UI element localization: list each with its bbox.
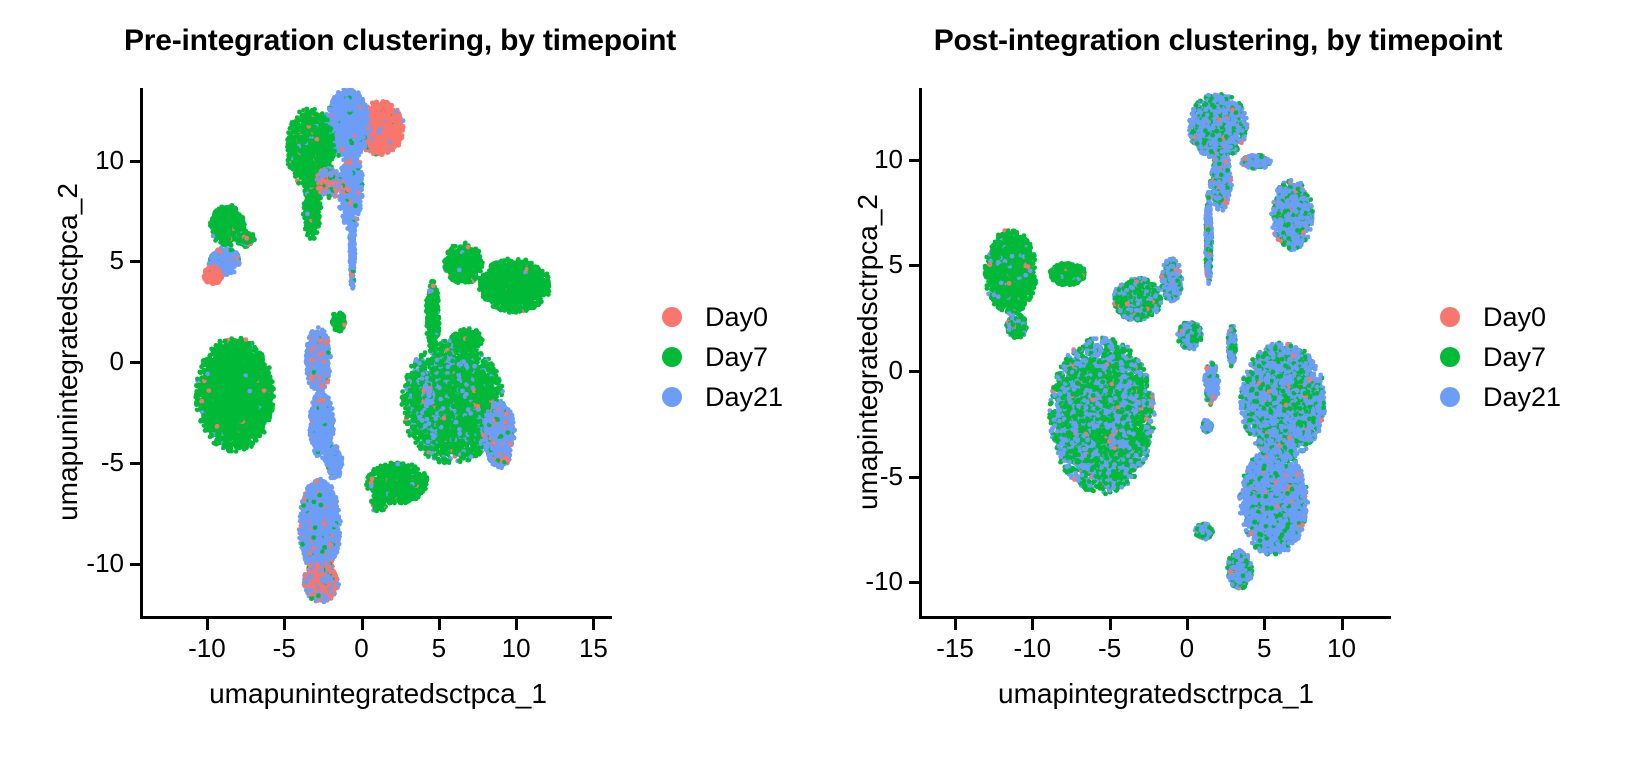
plot-title-post: Post-integration clustering, by timepoin… xyxy=(810,24,1626,58)
x-tick-mark xyxy=(438,619,441,630)
x-tick-mark xyxy=(1031,619,1034,630)
y-tick-label: -5 xyxy=(821,461,903,492)
x-tick-mark xyxy=(1263,619,1266,630)
legend-label-day7: Day7 xyxy=(705,342,768,373)
legend-dot-day7 xyxy=(1440,347,1460,367)
legend-item-day0[interactable]: Day0 xyxy=(1433,300,1561,334)
x-tick-label: -10 xyxy=(167,633,247,664)
legend-item-day21[interactable]: Day21 xyxy=(1433,380,1561,414)
y-axis-line-post xyxy=(919,88,922,618)
y-tick-label: 0 xyxy=(821,355,903,386)
legend-item-day21[interactable]: Day21 xyxy=(655,380,783,414)
legend-dot-day0 xyxy=(1440,307,1460,327)
y-tick-mark xyxy=(130,361,141,364)
legend-dot-day21 xyxy=(662,387,682,407)
legend-item-day0[interactable]: Day0 xyxy=(655,300,783,334)
legend-key-day0 xyxy=(655,300,689,334)
y-tick-label: -5 xyxy=(42,447,124,478)
x-axis-label-pre: umapunintegratedsctpca_1 xyxy=(78,678,678,710)
y-tick-mark xyxy=(130,563,141,566)
x-tick-mark xyxy=(361,619,364,630)
y-tick-mark xyxy=(130,462,141,465)
x-tick-mark xyxy=(592,619,595,630)
x-tick-label: 10 xyxy=(476,633,556,664)
x-tick-label: -5 xyxy=(1070,633,1150,664)
y-tick-label: -10 xyxy=(821,566,903,597)
legend-item-day7[interactable]: Day7 xyxy=(1433,340,1561,374)
y-tick-label: 5 xyxy=(42,245,124,276)
scatter-canvas-holder-pre xyxy=(142,88,612,616)
x-tick-mark xyxy=(283,619,286,630)
x-tick-label: -10 xyxy=(992,633,1072,664)
y-tick-mark xyxy=(909,370,920,373)
y-axis-line-pre xyxy=(140,88,143,618)
legend-label-day21: Day21 xyxy=(1483,382,1561,413)
y-tick-mark xyxy=(909,159,920,162)
scatter-plot-post[interactable] xyxy=(921,88,1391,616)
y-tick-label: 10 xyxy=(42,145,124,176)
x-tick-label: 5 xyxy=(1224,633,1304,664)
legend-dot-day7 xyxy=(662,347,682,367)
x-tick-label: 0 xyxy=(322,633,402,664)
y-tick-label: -10 xyxy=(42,548,124,579)
y-tick-mark xyxy=(130,260,141,263)
x-tick-label: 5 xyxy=(399,633,479,664)
scatter-plot-pre[interactable] xyxy=(142,88,612,616)
legend-pre: Day0 Day7 Day21 xyxy=(655,300,783,420)
x-tick-mark xyxy=(954,619,957,630)
y-tick-mark xyxy=(909,264,920,267)
legend-key-day21 xyxy=(655,380,689,414)
x-tick-label: -15 xyxy=(915,633,995,664)
y-tick-mark xyxy=(909,476,920,479)
y-tick-label: 10 xyxy=(821,144,903,175)
plot-panel-post: Post-integration clustering, by timepoin… xyxy=(816,0,1632,768)
legend-key-day0 xyxy=(1433,300,1467,334)
figure-root: Pre-integration clustering, by timepoint… xyxy=(0,0,1632,768)
y-tick-mark xyxy=(909,581,920,584)
y-tick-mark xyxy=(130,160,141,163)
x-axis-line-pre xyxy=(140,616,612,619)
x-tick-mark xyxy=(515,619,518,630)
plot-panel-pre: Pre-integration clustering, by timepoint… xyxy=(0,0,816,768)
x-tick-label: 15 xyxy=(553,633,633,664)
x-tick-mark xyxy=(1186,619,1189,630)
legend-item-day7[interactable]: Day7 xyxy=(655,340,783,374)
legend-key-day7 xyxy=(1433,340,1467,374)
x-tick-mark xyxy=(1109,619,1112,630)
legend-key-day21 xyxy=(1433,380,1467,414)
x-axis-line-post xyxy=(919,616,1391,619)
legend-label-day0: Day0 xyxy=(705,302,768,333)
legend-dot-day0 xyxy=(662,307,682,327)
x-axis-label-post: umapintegratedsctrpca_1 xyxy=(856,678,1456,710)
x-tick-mark xyxy=(206,619,209,630)
x-tick-label: 0 xyxy=(1147,633,1227,664)
legend-label-day7: Day7 xyxy=(1483,342,1546,373)
legend-key-day7 xyxy=(655,340,689,374)
scatter-canvas-holder-post xyxy=(921,88,1391,616)
x-tick-label: -5 xyxy=(244,633,324,664)
legend-label-day21: Day21 xyxy=(705,382,783,413)
x-tick-mark xyxy=(1341,619,1344,630)
legend-post: Day0 Day7 Day21 xyxy=(1433,300,1561,420)
y-tick-label: 5 xyxy=(821,249,903,280)
y-tick-label: 0 xyxy=(42,346,124,377)
legend-label-day0: Day0 xyxy=(1483,302,1546,333)
x-tick-label: 10 xyxy=(1302,633,1382,664)
legend-dot-day21 xyxy=(1440,387,1460,407)
plot-title-pre: Pre-integration clustering, by timepoint xyxy=(0,24,808,58)
